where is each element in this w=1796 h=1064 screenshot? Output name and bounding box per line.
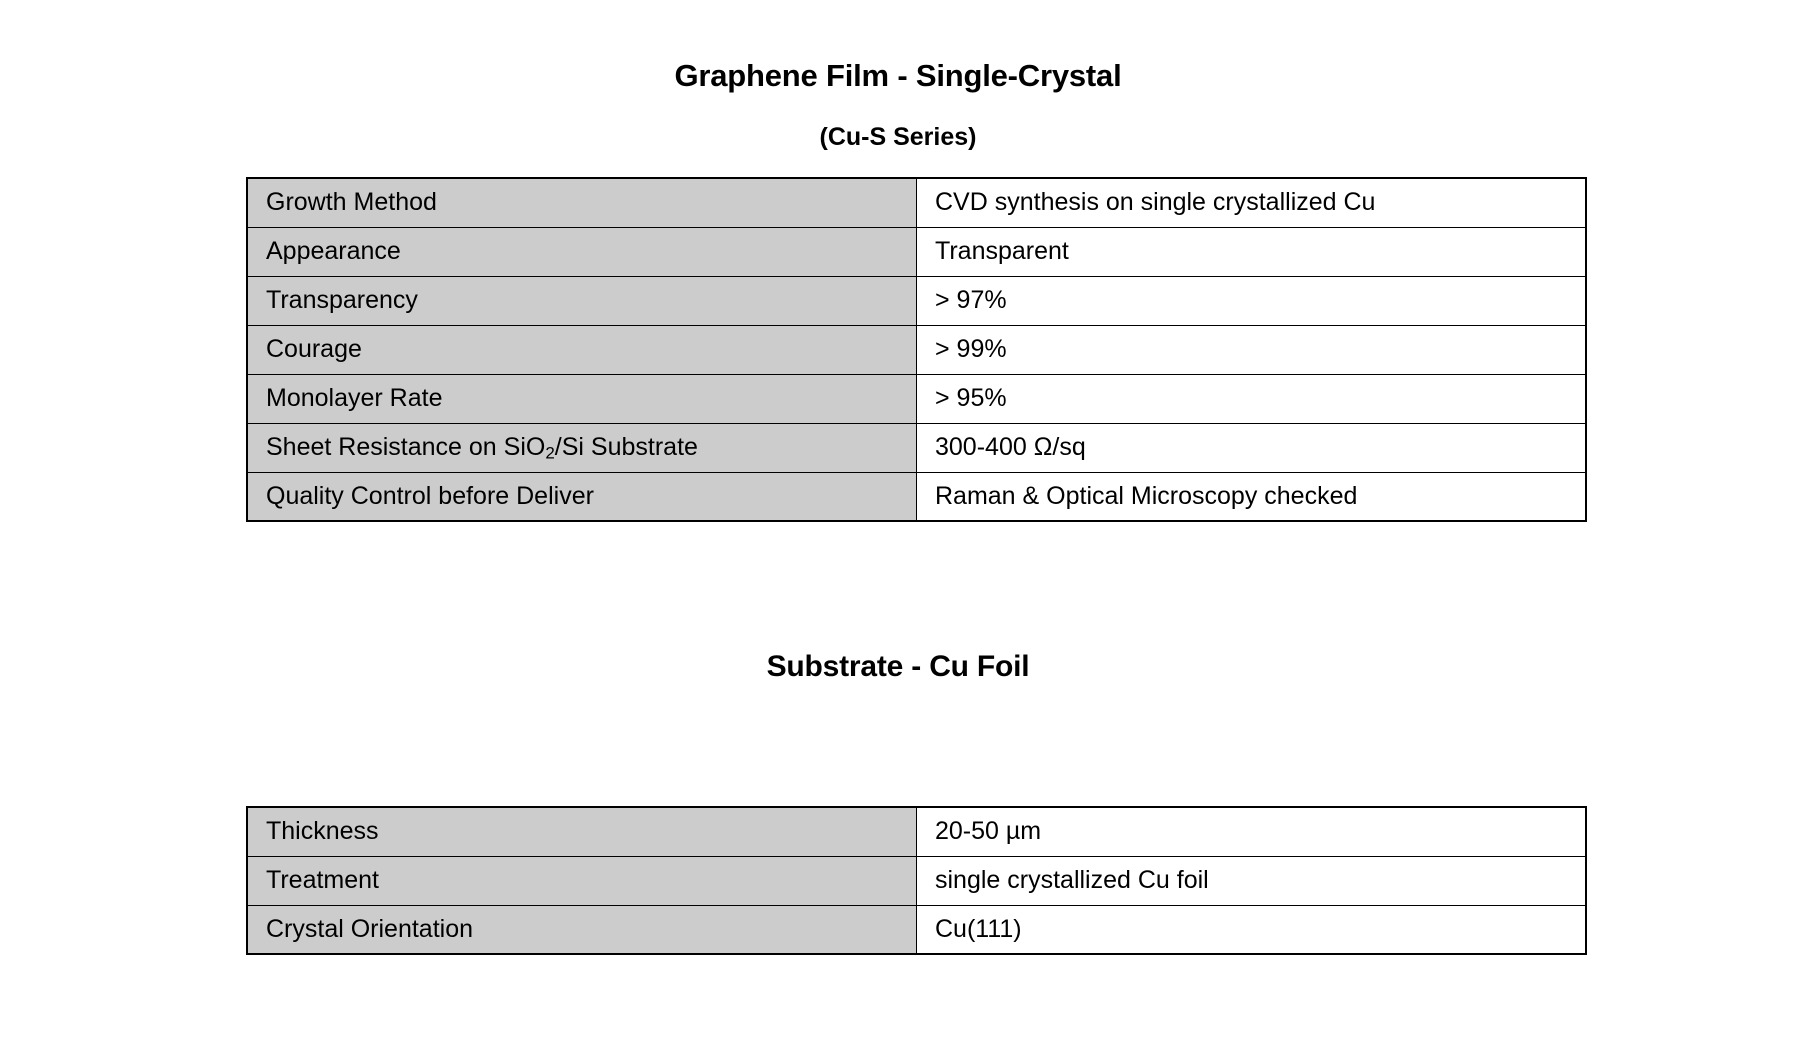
spec-label-monolayer-rate: Monolayer Rate [247, 374, 917, 423]
table-row: Quality Control before Deliver Raman & O… [247, 472, 1586, 521]
spec-value-monolayer-rate: > 95% [917, 374, 1587, 423]
table-row: Sheet Resistance on SiO2/Si Substrate 30… [247, 423, 1586, 472]
spec-label-sheet-resistance: Sheet Resistance on SiO2/Si Substrate [247, 423, 917, 472]
spec-value-transparency: > 97% [917, 276, 1587, 325]
graphene-film-spec-table: Growth Method CVD synthesis on single cr… [246, 177, 1587, 522]
spec-label-courage: Courage [247, 325, 917, 374]
table-row: Courage > 99% [247, 325, 1586, 374]
spec-value-crystal-orientation: Cu(111) [917, 905, 1587, 954]
sheet-resistance-text-part-1: Sheet Resistance on SiO [266, 433, 545, 461]
sheet-resistance-text-part-2: /Si Substrate [555, 433, 698, 461]
table-row: Growth Method CVD synthesis on single cr… [247, 178, 1586, 227]
page-title-graphene-film: Graphene Film - Single-Crystal [0, 58, 1796, 94]
sheet-resistance-subscript: 2 [545, 444, 554, 463]
spec-value-thickness: 20-50 µm [917, 807, 1587, 856]
table-row: Appearance Transparent [247, 227, 1586, 276]
spec-label-growth-method: Growth Method [247, 178, 917, 227]
spec-value-treatment: single crystallized Cu foil [917, 856, 1587, 905]
spec-label-treatment: Treatment [247, 856, 917, 905]
spec-value-sheet-resistance: 300-400 Ω/sq [917, 423, 1587, 472]
spec-value-growth-method: CVD synthesis on single crystallized Cu [917, 178, 1587, 227]
spec-label-appearance: Appearance [247, 227, 917, 276]
document-page: Graphene Film - Single-Crystal (Cu-S Ser… [0, 0, 1796, 1064]
spec-label-thickness: Thickness [247, 807, 917, 856]
table-row: Monolayer Rate > 95% [247, 374, 1586, 423]
spec-label-transparency: Transparency [247, 276, 917, 325]
spec-value-quality-control: Raman & Optical Microscopy checked [917, 472, 1587, 521]
spec-label-quality-control: Quality Control before Deliver [247, 472, 917, 521]
table-row: Thickness 20-50 µm [247, 807, 1586, 856]
spec-value-appearance: Transparent [917, 227, 1587, 276]
table-row: Crystal Orientation Cu(111) [247, 905, 1586, 954]
page-title-substrate-cu-foil: Substrate - Cu Foil [0, 650, 1796, 684]
substrate-spec-table: Thickness 20-50 µm Treatment single crys… [246, 806, 1587, 955]
spec-label-crystal-orientation: Crystal Orientation [247, 905, 917, 954]
spec-value-courage: > 99% [917, 325, 1587, 374]
page-subtitle-cu-s-series: (Cu-S Series) [0, 123, 1796, 152]
table-row: Transparency > 97% [247, 276, 1586, 325]
table-row: Treatment single crystallized Cu foil [247, 856, 1586, 905]
